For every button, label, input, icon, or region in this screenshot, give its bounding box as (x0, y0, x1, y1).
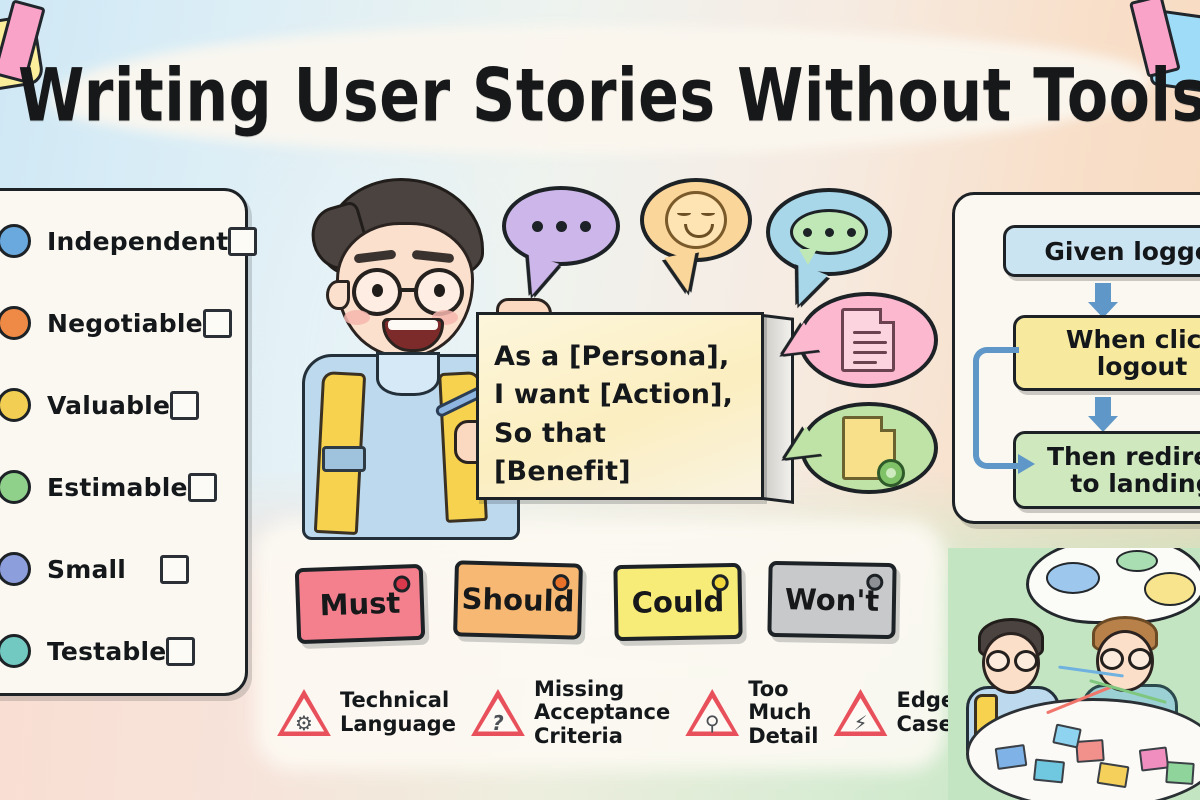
checkbox[interactable] (203, 309, 232, 338)
pitfall-label: Technical Language (340, 689, 456, 736)
bullet-dot (0, 634, 31, 668)
table-sticky-note (1139, 746, 1169, 771)
cheek-left (344, 310, 370, 325)
shirt-collar (376, 352, 440, 396)
ellipsis-icon (532, 221, 591, 232)
moscow-card-should[interactable]: Should (453, 560, 583, 639)
table-sticky-note (1033, 758, 1065, 783)
bullet-dot (0, 552, 31, 586)
pin-dot-icon (393, 575, 411, 593)
acceptance-criteria-panel: Given logged When click logout Then redi… (952, 192, 1200, 524)
checklist-label: Independent (47, 227, 228, 256)
checklist-item-testable[interactable]: Testable (0, 627, 245, 675)
question-icon: ? (470, 688, 526, 738)
moscow-card-must[interactable]: Must (295, 564, 426, 644)
checkbox[interactable] (160, 555, 189, 584)
chat-bubble-icon (790, 209, 868, 255)
table-sticky-note (995, 744, 1028, 770)
flow-arrow-down (1095, 397, 1111, 419)
bubble-tail (664, 251, 703, 295)
moscow-card-could[interactable]: Could (613, 563, 742, 641)
document-icon (841, 308, 895, 372)
checklist-label: Estimable (47, 473, 188, 502)
ear (326, 280, 350, 310)
moscow-card-label: Must (319, 586, 401, 623)
pitfall-edge-cases: ⚡ Edge Cases (833, 672, 966, 754)
lightning-icon: ⚡ (833, 688, 889, 738)
gear-icon: ⚙ (276, 688, 332, 738)
table-sticky-note (1165, 761, 1194, 785)
checklist-item-small[interactable]: Small (0, 545, 245, 593)
magnifier-icon: ⚲ (684, 688, 740, 738)
document-approved-icon (842, 416, 896, 480)
moscow-priority-cards: Must Should Could Won't (296, 556, 896, 648)
step-then: Then redirect to landing (1013, 431, 1200, 509)
teammate-1-glasses-left (986, 650, 1010, 672)
cloud-bubble-yellow (1144, 572, 1196, 606)
teammate-2-glasses-left (1100, 648, 1124, 670)
smiley-bubble (640, 178, 752, 262)
moscow-card-wont[interactable]: Won't (767, 561, 896, 639)
checklist-label: Valuable (47, 391, 170, 420)
checklist-label: Small (47, 555, 160, 584)
flow-loop-arrow (973, 347, 1019, 469)
checkbox[interactable] (188, 473, 217, 502)
bullet-dot (0, 224, 31, 258)
teammate-1-glasses-right (1014, 650, 1038, 672)
bullet-dot (0, 388, 31, 422)
checklist-item-estimable[interactable]: Estimable (0, 463, 245, 511)
moscow-card-label: Could (631, 584, 724, 620)
table-sticky-note (1096, 762, 1129, 788)
bullet-dot (0, 306, 31, 340)
step-when: When click logout (1013, 315, 1200, 391)
checklist-item-negotiable[interactable]: Negotiable (0, 299, 245, 347)
checkbox[interactable] (228, 227, 257, 256)
pitfall-label: Missing Acceptance Criteria (534, 678, 670, 749)
pitfalls-row: ⚙ Technical Language ? Missing Acceptanc… (276, 672, 948, 754)
pin-dot-icon (712, 574, 729, 591)
eye-right (434, 284, 445, 297)
vest-pocket (322, 446, 366, 472)
bullet-dot (0, 470, 31, 504)
step-given: Given logged (1003, 225, 1200, 277)
checkbox[interactable] (166, 637, 195, 666)
page-title: Writing User Stories Without Tools (18, 52, 1182, 138)
glasses-bridge (401, 288, 417, 292)
user-story-template-card: As a [Persona], I want [Action], So that… (476, 312, 764, 500)
pitfall-missing-acceptance-criteria: ? Missing Acceptance Criteria (470, 672, 670, 754)
teammate-2-glasses-right (1128, 648, 1152, 670)
approval-seal-icon (877, 459, 905, 487)
table-sticky-note (1075, 739, 1104, 763)
flow-arrow-down (1095, 283, 1111, 305)
collaboration-scene (948, 548, 1200, 800)
cloud-bubble-green (1116, 550, 1158, 572)
document-bubble (798, 292, 938, 388)
approved-bubble (800, 402, 938, 494)
teeth (388, 320, 438, 330)
nested-bubble (766, 188, 892, 276)
invest-checklist-panel: Independent Negotiable Valuable Estimabl… (0, 188, 248, 696)
pitfall-label: Too Much Detail (748, 678, 818, 749)
infographic-canvas: Writing User Stories Without Tools Indep… (0, 0, 1200, 800)
checklist-item-valuable[interactable]: Valuable (0, 381, 245, 429)
ellipsis-bubble (502, 186, 620, 266)
user-story-template-text: As a [Persona], I want [Action], So that… (494, 338, 748, 491)
pitfall-technical-language: ⚙ Technical Language (276, 672, 456, 754)
pitfall-too-much-detail: ⚲ Too Much Detail (684, 672, 818, 754)
checklist-item-independent[interactable]: Independent (0, 217, 245, 265)
cloud-bubble-blue (1046, 562, 1100, 594)
checklist-label: Testable (47, 637, 166, 666)
checklist-label: Negotiable (47, 309, 203, 338)
checkbox[interactable] (170, 391, 199, 420)
eye-left (372, 284, 383, 297)
smiley-face-icon (665, 191, 727, 249)
pin-dot-icon (866, 574, 883, 591)
moscow-card-label: Won't (785, 582, 880, 618)
